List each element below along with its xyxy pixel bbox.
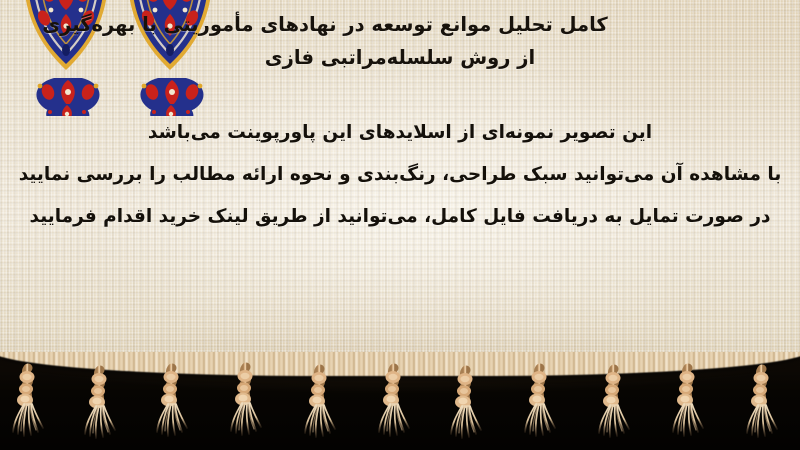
carpet-background xyxy=(0,0,800,372)
persian-medallion-pendant-left-icon xyxy=(18,0,114,116)
canvas-weave-texture xyxy=(0,0,800,372)
slide-canvas: کامل تحلیل موانع توسعه در نهادهای مأموری… xyxy=(0,0,800,450)
fringe-tassels-group xyxy=(0,352,800,450)
carpet-fringe xyxy=(0,352,800,450)
canvas-weave-texture-coarse xyxy=(0,0,800,372)
persian-medallion-pendant-right-icon xyxy=(122,0,218,116)
